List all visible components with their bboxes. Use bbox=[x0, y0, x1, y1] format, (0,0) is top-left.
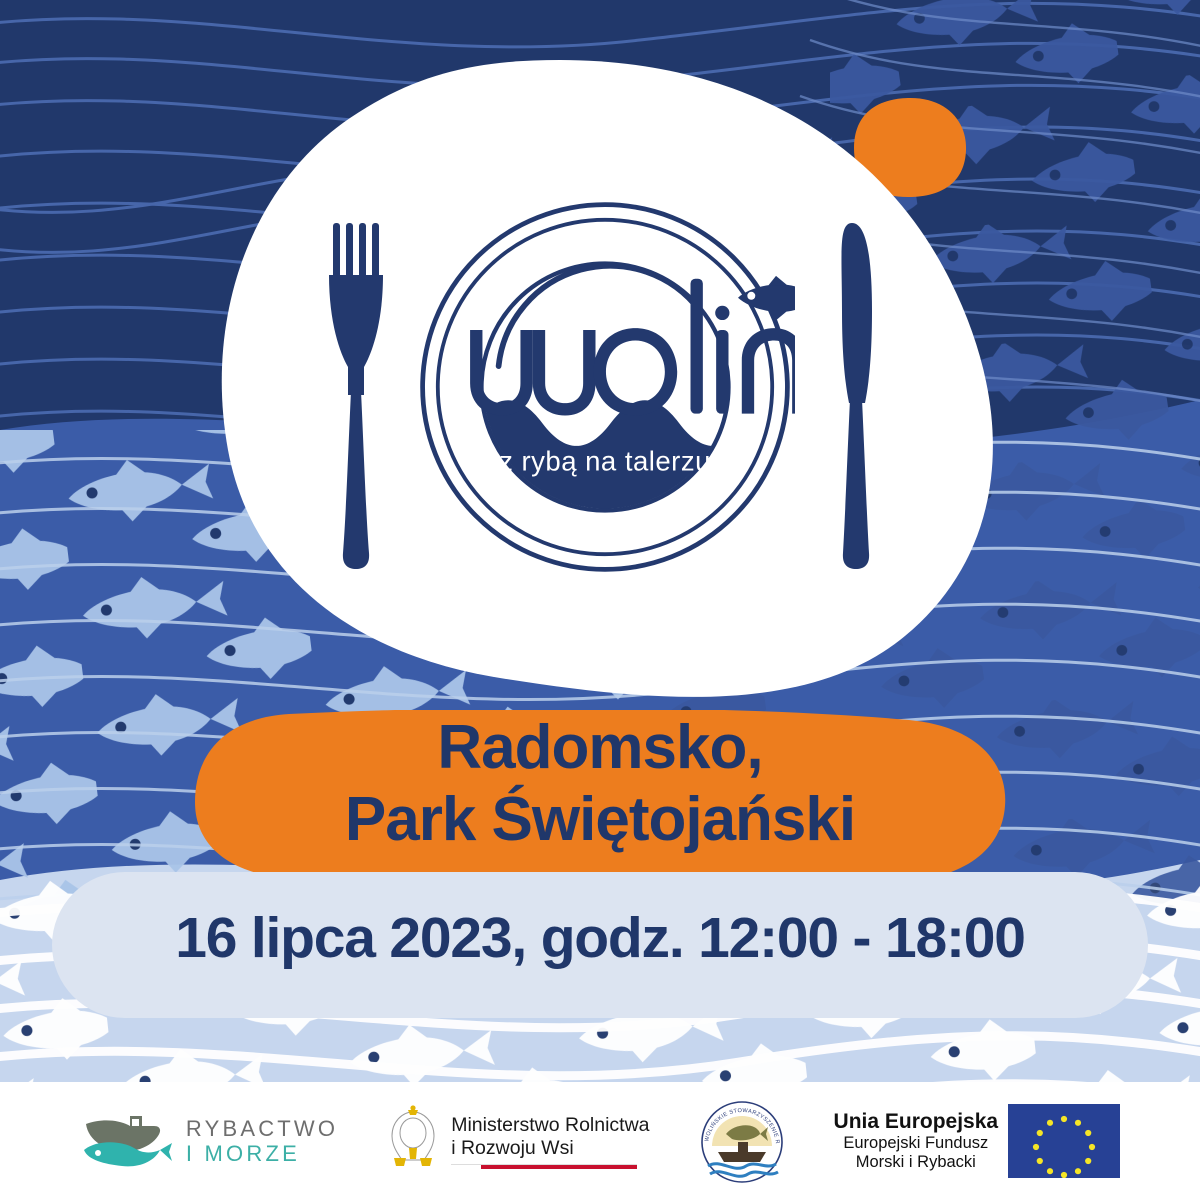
footer-logo-unia-europejska: Unia Europejska Europejski Fundusz Morsk… bbox=[834, 1104, 1121, 1178]
place-line-2: Park Świętojański bbox=[0, 784, 1200, 856]
logo-tagline: z rybą na talerzu bbox=[499, 446, 711, 477]
wolin-plate-logo: z rybą na talerzu bbox=[415, 187, 795, 587]
wolin-logo-block: z rybą na talerzu bbox=[300, 215, 900, 595]
rybactwo-line-1: RYBACTWO bbox=[186, 1116, 338, 1141]
eu-line-1: Unia Europejska bbox=[834, 1110, 999, 1134]
footer-logo-ministerstwo: Ministerstwo Rolnictwa i Rozwoju Wsi bbox=[384, 1104, 649, 1178]
eu-line-3: Morski i Rybacki bbox=[834, 1153, 999, 1172]
eu-flag-icon bbox=[1008, 1104, 1120, 1178]
poster-canvas: z rybą na talerzu Radomsko, Park Świętoj… bbox=[0, 0, 1200, 1200]
ministerstwo-line-1: Ministerstwo Rolnictwa bbox=[451, 1114, 649, 1137]
fishermen-association-emblem-icon: WOLIŃSKIE STOWARZYSZENIE RYBAKÓW bbox=[696, 1096, 788, 1186]
place-line-1: Radomsko, bbox=[0, 712, 1200, 784]
footer-logo-stowarzyszenie: WOLIŃSKIE STOWARZYSZENIE RYBAKÓW bbox=[696, 1096, 788, 1186]
sponsor-footer: RYBACTWO I MORZE Ministerstwo Rolnictwa … bbox=[0, 1082, 1200, 1200]
boat-and-fish-icon bbox=[80, 1110, 176, 1172]
ministerstwo-line-2: i Rozwoju Wsi bbox=[451, 1137, 649, 1160]
polish-eagle-icon bbox=[384, 1104, 442, 1178]
background-ocean-pattern bbox=[0, 0, 1200, 1200]
place-text: Radomsko, Park Świętojański bbox=[0, 712, 1200, 856]
footer-logo-rybactwo-i-morze: RYBACTWO I MORZE bbox=[80, 1110, 338, 1172]
polish-flag-bar bbox=[451, 1164, 637, 1169]
date-text: 16 lipca 2023, godz. 12:00 - 18:00 bbox=[0, 905, 1200, 971]
rybactwo-line-2: I MORZE bbox=[186, 1141, 338, 1166]
eu-line-2: Europejski Fundusz bbox=[834, 1134, 999, 1153]
fork-icon bbox=[310, 215, 400, 575]
knife-icon bbox=[822, 215, 892, 575]
